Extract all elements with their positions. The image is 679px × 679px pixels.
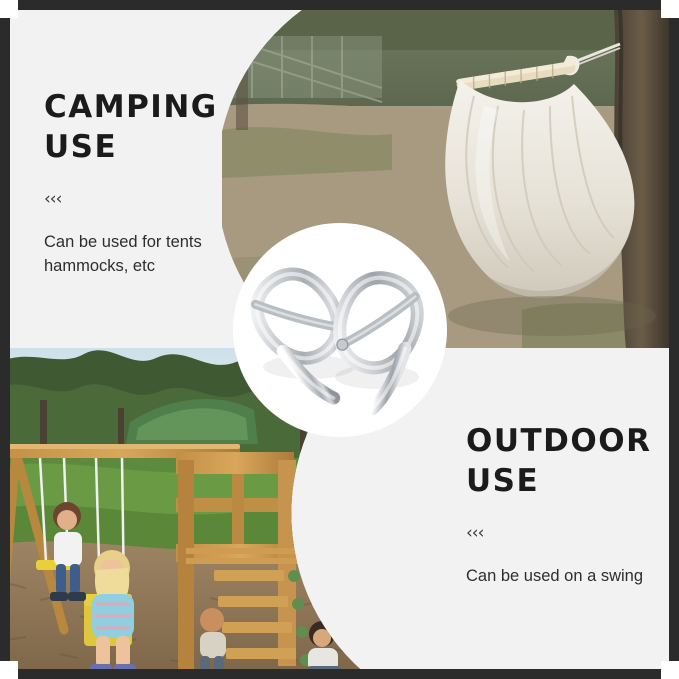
camping-headline-line2: USE [44,129,117,165]
frame-right-edge [669,0,679,679]
camping-subtext-line1: Can be used for tents [44,233,202,251]
outdoor-subtext: Can be used on a swing [466,565,666,589]
outdoor-headline-line2: USE [466,463,539,499]
frame-top-edge [0,0,679,10]
product-infographic: CAMPINGUSE ‹‹‹ Can be used for tentshamm… [0,0,679,679]
outdoor-chevrons-icon: ‹‹‹ [466,523,666,543]
frame-corner-bottom-left [0,661,18,679]
camping-headline: CAMPINGUSE [44,88,244,167]
camping-text-block: CAMPINGUSE ‹‹‹ Can be used for tentshamm… [44,88,244,279]
camping-subtext-line2: hammocks, etc [44,257,155,275]
camping-subtext: Can be used for tentshammocks, etc [44,231,244,279]
outdoor-text-block: OUTDOORUSE ‹‹‹ Can be used on a swing [466,422,666,589]
frame-bottom-edge [0,669,679,679]
outdoor-headline-line1: OUTDOOR [466,423,651,459]
camping-chevrons-icon: ‹‹‹ [44,189,244,209]
frame-corner-bottom-right [661,661,679,679]
child-platform [300,470,332,552]
frame-corner-top-left [0,0,18,18]
frame-corner-top-right [661,0,679,18]
camping-headline-line1: CAMPING [44,89,218,125]
snap-hook-product-image [237,227,443,433]
frame-left-edge [0,0,10,679]
product-circle [237,227,443,433]
outdoor-headline: OUTDOORUSE [466,422,666,501]
